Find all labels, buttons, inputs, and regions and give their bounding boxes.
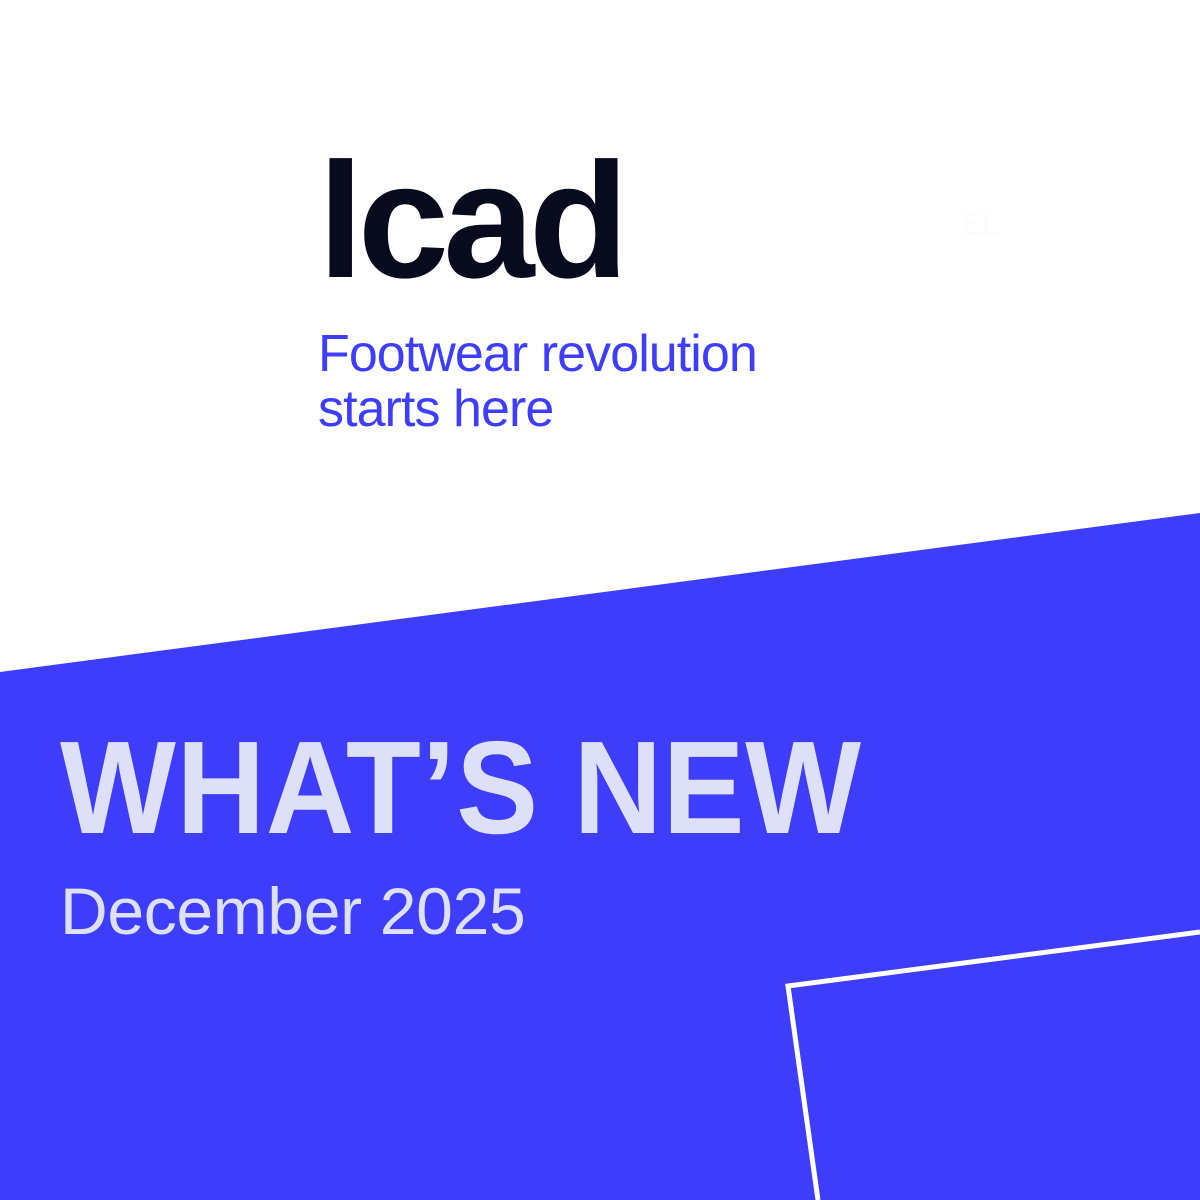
brand-tagline: Footwear revolution starts here — [318, 291, 757, 437]
brand-header: lcad Footwear revolution starts here — [318, 150, 757, 437]
brand-logo: lcad — [318, 150, 757, 291]
faint-watermark: EL — [962, 208, 1000, 242]
brand-tagline-line-2: starts here — [318, 382, 757, 437]
issue-date: December 2025 — [60, 850, 922, 944]
whats-new-slide: lcad Footwear revolution starts here EL … — [0, 0, 1200, 1200]
page-title: WHAT’S NEW — [60, 726, 862, 850]
title-block: WHAT’S NEW December 2025 — [60, 726, 922, 944]
brand-tagline-line-1: Footwear revolution — [318, 327, 757, 382]
